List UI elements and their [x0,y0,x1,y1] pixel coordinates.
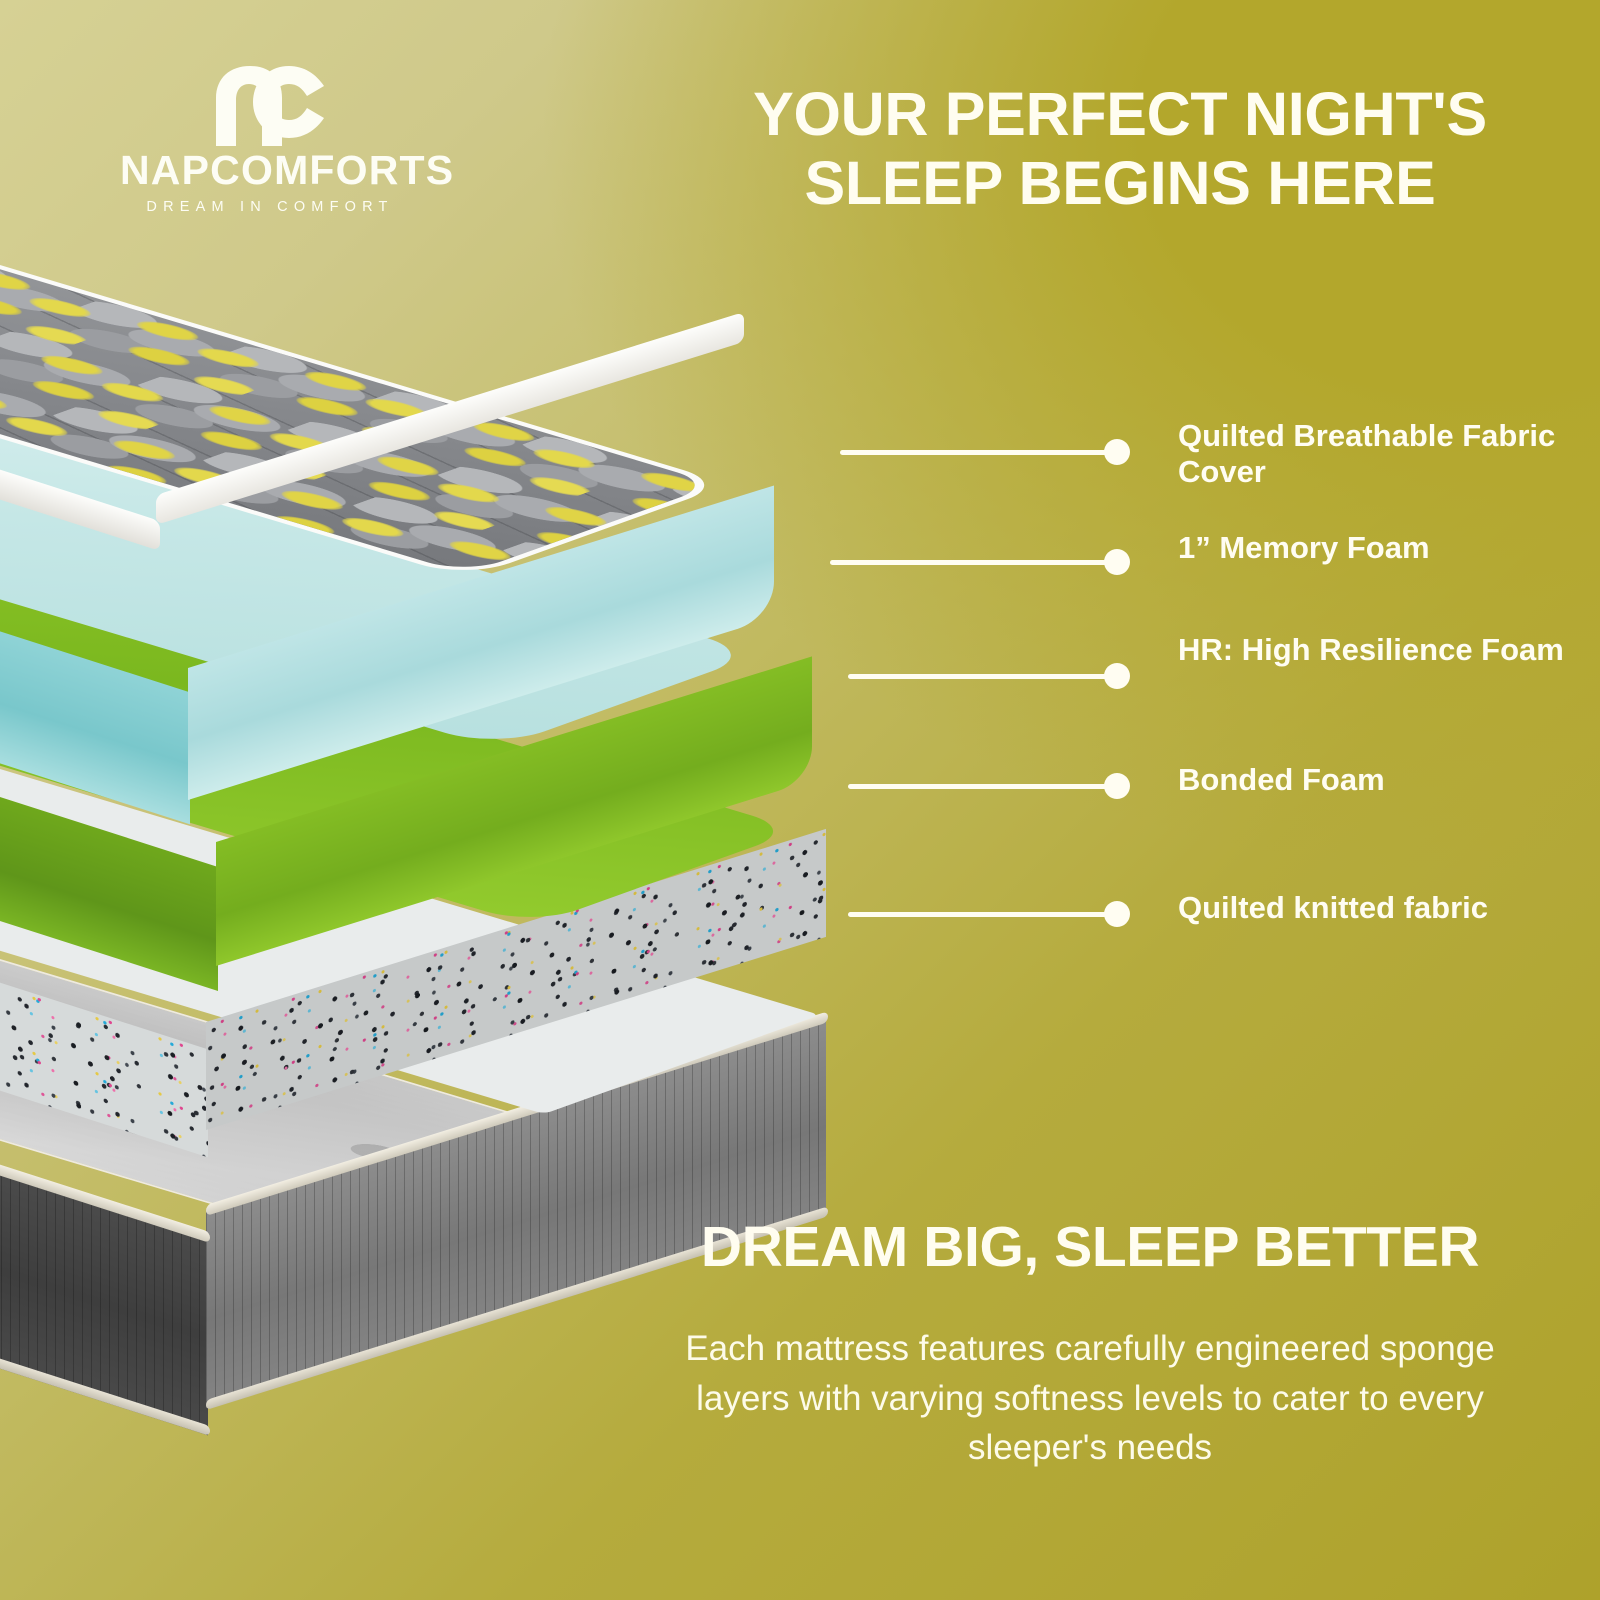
callout-label: HR: High Resilience Foam [1178,632,1598,668]
leader-line [848,784,1112,789]
bottom-body: Each mattress features carefully enginee… [640,1324,1540,1473]
leader-dot [1104,439,1130,465]
callout-label: 1” Memory Foam [1178,530,1598,566]
layer-quilted-cover [0,160,830,490]
headline-line-1: YOUR PERFECT NIGHT'S [700,80,1540,149]
leader-dot [1104,549,1130,575]
bottom-heading: DREAM BIG, SLEEP BETTER [640,1218,1540,1278]
leader-dot [1104,773,1130,799]
leader-line [840,450,1112,455]
mattress-layer-diagram [0,300,1000,1360]
callout-label: Quilted Breathable Fabric Cover [1178,418,1598,490]
leader-dot [1104,901,1130,927]
nc-monogram-icon [210,62,330,148]
leader-dot [1104,663,1130,689]
callout-label: Bonded Foam [1178,762,1598,798]
leader-line [848,674,1112,679]
leader-line [848,912,1112,917]
bottom-message: DREAM BIG, SLEEP BETTER Each mattress fe… [640,1218,1540,1473]
leader-line [830,560,1112,565]
callout-label: Quilted knitted fabric [1178,890,1598,926]
